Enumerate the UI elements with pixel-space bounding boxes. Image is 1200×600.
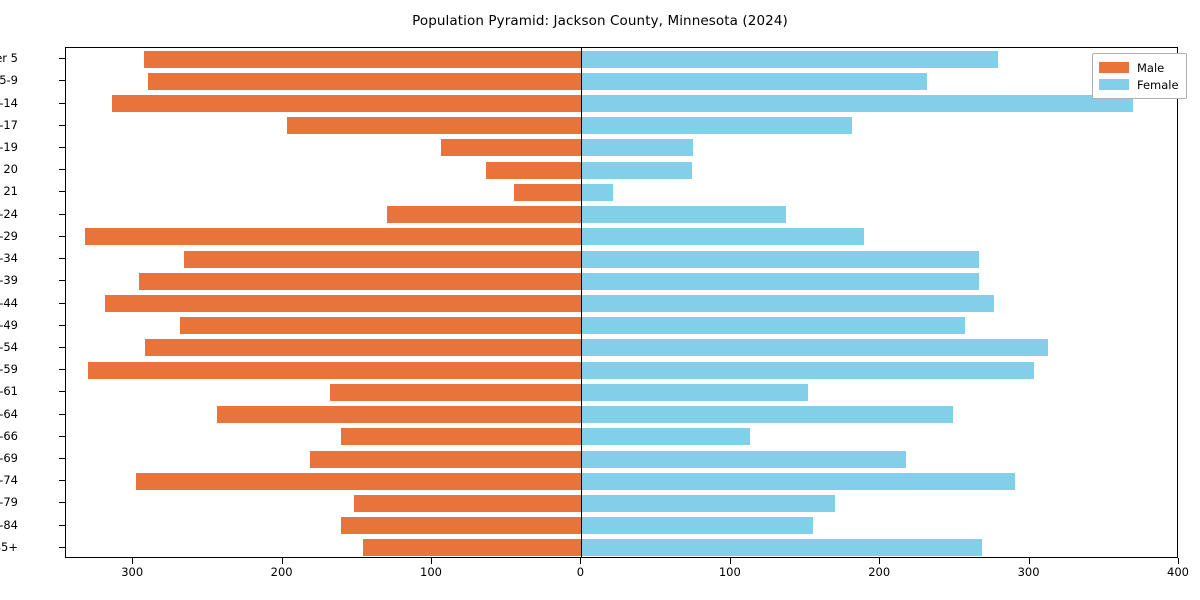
bar-male bbox=[330, 384, 581, 401]
bar-female bbox=[581, 95, 1132, 112]
bar-male bbox=[105, 295, 582, 312]
y-axis-tick-mark bbox=[59, 214, 65, 215]
bar-female bbox=[581, 517, 813, 534]
y-axis-tick-label: 75-79 bbox=[0, 495, 18, 509]
y-axis-tick-mark bbox=[59, 502, 65, 503]
y-axis-tick-label: 45-49 bbox=[0, 318, 18, 332]
bar-female bbox=[581, 162, 692, 179]
bar-male bbox=[145, 339, 581, 356]
x-axis-tick-mark bbox=[1029, 558, 1030, 564]
x-axis-tick-mark bbox=[282, 558, 283, 564]
y-axis-tick-mark bbox=[59, 458, 65, 459]
bar-female bbox=[581, 451, 905, 468]
y-axis-tick-label: 10-14 bbox=[0, 96, 18, 110]
bar-female bbox=[581, 406, 953, 423]
bar-male bbox=[184, 251, 581, 268]
y-axis-tick-label: 80-84 bbox=[0, 518, 18, 532]
y-axis-tick-label: 40-44 bbox=[0, 296, 18, 310]
bar-female bbox=[581, 295, 993, 312]
y-axis-tick-label: 25-29 bbox=[0, 229, 18, 243]
x-axis-tick-label: 400 bbox=[1167, 565, 1189, 579]
bar-female bbox=[581, 495, 835, 512]
x-axis-tick-mark bbox=[879, 558, 880, 564]
bar-female bbox=[581, 73, 926, 90]
y-axis-tick-mark bbox=[59, 436, 65, 437]
zero-axis-line bbox=[581, 48, 582, 557]
y-axis-tick-label: 62-64 bbox=[0, 407, 18, 421]
y-axis-tick-label: Under 5 bbox=[0, 51, 18, 65]
population-pyramid-figure: Population Pyramid: Jackson County, Minn… bbox=[0, 0, 1200, 600]
bar-female bbox=[581, 184, 612, 201]
y-axis-tick-mark bbox=[59, 80, 65, 81]
y-axis-tick-mark bbox=[59, 191, 65, 192]
x-axis-tick-label: 200 bbox=[868, 565, 890, 579]
bar-male bbox=[148, 73, 581, 90]
y-axis-tick-mark bbox=[59, 347, 65, 348]
y-axis-tick-label: 5-9 bbox=[0, 73, 18, 87]
bar-female bbox=[581, 206, 786, 223]
bar-female bbox=[581, 362, 1034, 379]
bar-female bbox=[581, 251, 978, 268]
x-axis-tick-label: 300 bbox=[121, 565, 143, 579]
y-axis-tick-label: 65-66 bbox=[0, 429, 18, 443]
bar-male bbox=[514, 184, 581, 201]
y-axis-tick-mark bbox=[59, 480, 65, 481]
y-axis-tick-label: 50-54 bbox=[0, 340, 18, 354]
y-axis-tick-label: 30-34 bbox=[0, 251, 18, 265]
bar-male bbox=[144, 51, 582, 68]
bar-male bbox=[387, 206, 581, 223]
bar-male bbox=[341, 517, 582, 534]
y-axis-tick-label: 70-74 bbox=[0, 473, 18, 487]
legend-color-swatch bbox=[1099, 79, 1129, 90]
x-axis-tick-label: 100 bbox=[420, 565, 442, 579]
y-axis-tick-mark bbox=[59, 58, 65, 59]
y-axis-tick-mark bbox=[59, 103, 65, 104]
bar-male bbox=[363, 539, 581, 556]
bar-female bbox=[581, 228, 863, 245]
plot-area bbox=[65, 47, 1178, 558]
bar-male bbox=[287, 117, 581, 134]
y-axis-tick-mark bbox=[59, 236, 65, 237]
bar-male bbox=[486, 162, 582, 179]
y-axis-tick-label: 35-39 bbox=[0, 273, 18, 287]
y-axis-tick-mark bbox=[59, 147, 65, 148]
bar-male bbox=[139, 273, 581, 290]
legend-label: Female bbox=[1137, 78, 1179, 92]
y-axis-tick-label: 22-24 bbox=[0, 207, 18, 221]
x-axis-tick-mark bbox=[431, 558, 432, 564]
y-axis-tick-mark bbox=[59, 280, 65, 281]
bar-female bbox=[581, 139, 693, 156]
y-axis-tick-mark bbox=[59, 125, 65, 126]
bar-female bbox=[581, 339, 1047, 356]
x-axis-tick-mark bbox=[1178, 558, 1179, 564]
x-axis-tick-mark bbox=[730, 558, 731, 564]
bar-female bbox=[581, 51, 998, 68]
y-axis-tick-mark bbox=[59, 547, 65, 548]
bar-female bbox=[581, 273, 978, 290]
y-axis-tick-mark bbox=[59, 391, 65, 392]
y-axis-tick-label: 85+ bbox=[0, 540, 18, 554]
bar-male bbox=[441, 139, 581, 156]
y-axis-tick-mark bbox=[59, 325, 65, 326]
x-axis-tick-label: 200 bbox=[271, 565, 293, 579]
y-axis-tick-label: 15-17 bbox=[0, 118, 18, 132]
x-axis-tick-label: 300 bbox=[1018, 565, 1040, 579]
y-axis-tick-label: 67-69 bbox=[0, 451, 18, 465]
y-axis-tick-mark bbox=[59, 303, 65, 304]
bar-male bbox=[112, 95, 581, 112]
x-axis-tick-label: 0 bbox=[577, 565, 584, 579]
legend-color-swatch bbox=[1099, 62, 1129, 73]
y-axis-tick-mark bbox=[59, 414, 65, 415]
bar-male bbox=[88, 362, 581, 379]
y-axis-tick-mark bbox=[59, 525, 65, 526]
bar-female bbox=[581, 384, 808, 401]
x-axis-tick-mark bbox=[580, 558, 581, 564]
bar-female bbox=[581, 539, 981, 556]
bar-male bbox=[85, 228, 581, 245]
chart-title: Population Pyramid: Jackson County, Minn… bbox=[0, 13, 1200, 29]
y-axis-tick-mark bbox=[59, 369, 65, 370]
y-axis-tick-label: 21 bbox=[3, 184, 18, 198]
chart-legend: MaleFemale bbox=[1092, 53, 1187, 99]
y-axis-tick-mark bbox=[59, 169, 65, 170]
bar-male bbox=[354, 495, 581, 512]
bar-female bbox=[581, 428, 750, 445]
bar-female bbox=[581, 317, 965, 334]
y-axis-tick-label: 60-61 bbox=[0, 384, 18, 398]
bar-female bbox=[581, 473, 1014, 490]
bars-layer bbox=[66, 48, 1177, 557]
bar-male bbox=[217, 406, 582, 423]
legend-label: Male bbox=[1137, 61, 1164, 75]
y-axis-tick-label: 20 bbox=[3, 162, 18, 176]
bar-male bbox=[136, 473, 581, 490]
bar-female bbox=[581, 117, 851, 134]
legend-entry[interactable]: Male bbox=[1099, 59, 1179, 76]
x-axis-tick-label: 100 bbox=[719, 565, 741, 579]
bar-male bbox=[341, 428, 582, 445]
legend-entry[interactable]: Female bbox=[1099, 76, 1179, 93]
x-axis-tick-mark bbox=[132, 558, 133, 564]
bar-male bbox=[180, 317, 582, 334]
bar-male bbox=[310, 451, 582, 468]
y-axis-tick-label: 18-19 bbox=[0, 140, 18, 154]
y-axis-tick-label: 55-59 bbox=[0, 362, 18, 376]
y-axis-tick-mark bbox=[59, 258, 65, 259]
